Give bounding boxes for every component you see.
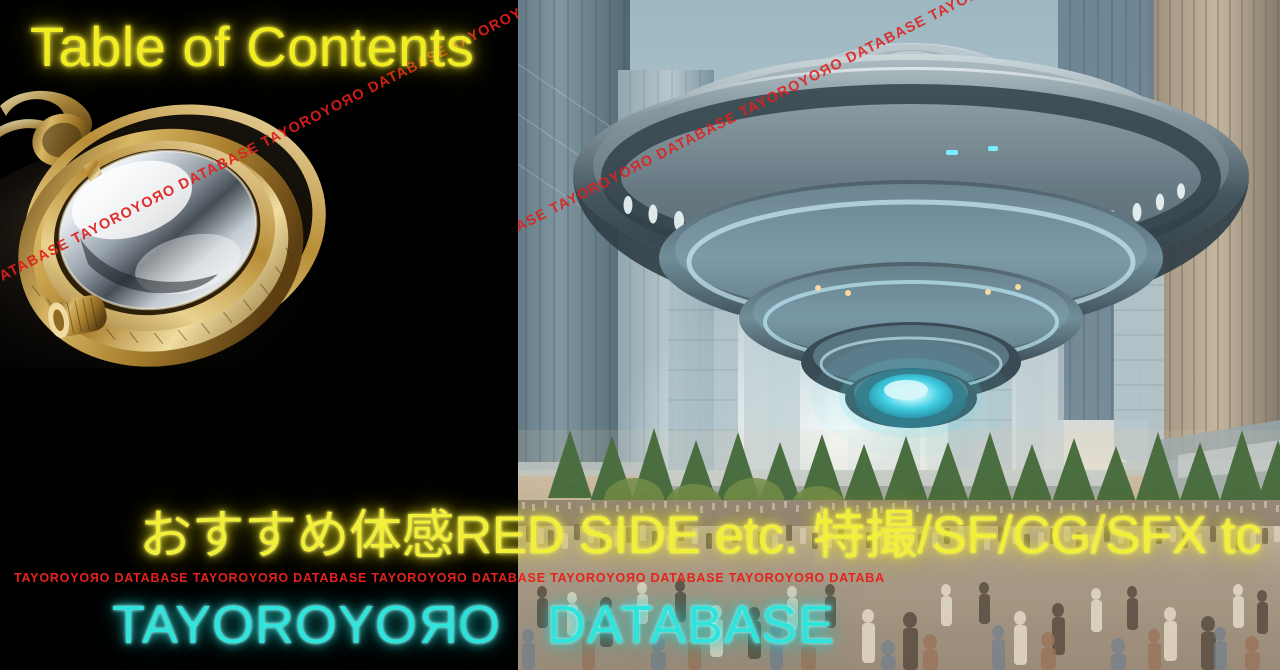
poster-canvas: TAYOROYOЯO DATABASE TAYOROYOЯO DATABASE … (0, 0, 1280, 670)
brand-mirrored-r: R (418, 598, 458, 652)
ufo-city-illustration (518, 0, 1280, 670)
left-black-panel: Table of Contents (0, 0, 518, 670)
page-title: Table of Contents (30, 14, 474, 79)
ufo-city-photo: TAYOROYOЯO DATABASE TAYOROYOЯO DATABASE … (518, 0, 1280, 670)
brand-left-word: TAYOROYO (112, 595, 418, 655)
brand-left-word-tail: O (458, 595, 501, 655)
brand-logo: TAYOROYORODATABASE (112, 598, 835, 652)
headline-text: おすすめ体感RED SIDE etc. 特撮/SF/CG/SFX tc (139, 509, 1261, 562)
brand-right-word: DATABASE (547, 595, 835, 655)
watermark-strip: TAYOROYOЯO DATABASE TAYOROYOЯO DATABASE … (14, 571, 1280, 585)
